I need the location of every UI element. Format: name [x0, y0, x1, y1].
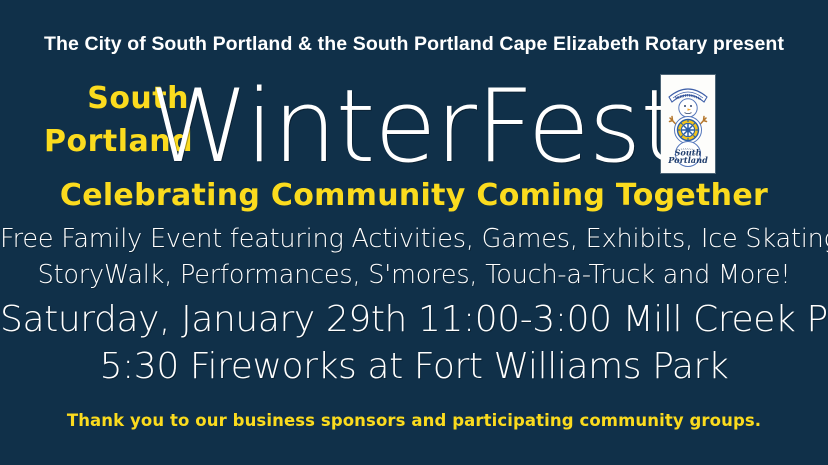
event-schedule: Saturday, January 29th 11:00-3:00 Mill C…	[0, 296, 828, 390]
description-line-2: StoryWalk, Performances, S'mores, Touch-…	[0, 257, 828, 293]
description-line-1: Free Family Event featuring Activities, …	[0, 221, 828, 257]
presenter-line: The City of South Portland & the South P…	[0, 33, 828, 56]
winterfest-logo-card: South Portland	[661, 75, 715, 173]
schedule-line-1: Saturday, January 29th 11:00-3:00 Mill C…	[0, 296, 828, 343]
logo-badge-text-line2: Portland	[667, 155, 708, 165]
logo-snowman-eye-right	[690, 105, 692, 107]
event-description: Free Family Event featuring Activities, …	[0, 221, 828, 293]
winterfest-logo-artwork: South Portland	[661, 75, 715, 173]
logo-snowman-head	[679, 99, 697, 117]
logo-snowman-eye-left	[684, 105, 686, 107]
schedule-line-2: 5:30 Fireworks at Fort Williams Park	[0, 343, 828, 390]
winterfest-flyer: The City of South Portland & the South P…	[0, 0, 828, 465]
logo-rotary-wheel	[678, 120, 699, 141]
event-tagline: Celebrating Community Coming Together	[0, 178, 828, 213]
sponsor-thank-you: Thank you to our business sponsors and p…	[0, 411, 828, 430]
